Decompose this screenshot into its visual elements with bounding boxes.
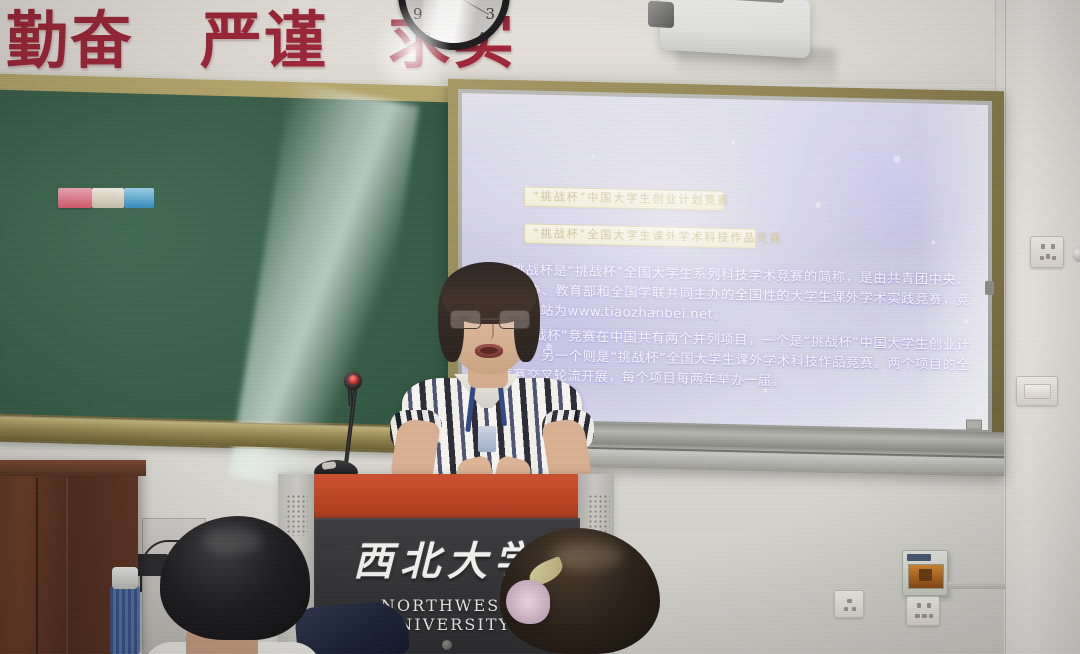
wall-power-outlet-lower[interactable] [906,596,940,626]
ceiling-projector-icon [660,0,810,59]
outlet-slot [929,614,933,618]
clock-glare [423,0,487,50]
screen-hinge [985,281,994,295]
presenter [392,260,592,495]
glasses-lens-left [450,310,481,329]
presenter-id-badge [478,426,496,452]
outlet-slot [1040,256,1044,260]
blackboard-surface [0,90,454,427]
light-switch[interactable] [1016,376,1058,406]
outlet-slot [927,603,931,608]
water-bottle-cap [112,567,138,589]
audience-student-right [500,528,660,654]
breaker-window [908,564,944,589]
chalk-box-pink [58,188,92,208]
slide-title-bar-1: “挑战杯”中国大学生创业计划竞赛 [524,186,724,211]
circuit-breaker-box[interactable] [902,550,948,596]
door-knob-icon[interactable] [1072,246,1080,262]
microphone-status-led [349,375,358,384]
glasses-bridge [481,318,499,320]
wall-seam [1005,0,1006,654]
desk-groove-highlight [66,478,68,654]
blackboard [0,73,458,454]
outlet-slot [1041,244,1045,249]
desk-groove [36,478,38,654]
slogan-char-3: 严 [200,6,264,76]
classroom-photo-scene: 勤 奋 严 谨 求 实 9 8 3 4 5 [0,0,1080,654]
chalk-box-blue [124,188,154,208]
clock-numeral-9: 9 [413,5,423,23]
breaker-label [907,554,931,561]
desk-top-surface [0,460,146,476]
port-slot [852,607,856,611]
slide-title-bar-2: “挑战杯”全国大学生课外学术科技作品竞赛 [524,223,756,248]
audience-student-left [160,516,310,654]
slogan-char-4: 谨 [264,6,328,76]
plaque-screw [442,640,452,650]
hair-accessory-flower-icon [506,580,550,624]
dark-bag-on-podium [294,599,410,654]
outlet-slot [1046,254,1050,259]
breaker-switch[interactable] [919,569,932,581]
podium-red-band [278,474,614,520]
chalk-box-white [92,188,124,208]
slogan-char-2: 奋 [70,6,134,76]
light-switch-rocker[interactable] [1024,384,1051,399]
screen-clip [966,419,982,429]
right-wall-panel [995,0,1080,654]
student-hair-highlight [202,528,262,554]
slogan-char-1: 勤 [6,6,70,76]
outlet-slot [917,603,921,608]
presenter-nose [484,324,494,340]
presenter-mouth-inner [480,347,498,354]
outlet-slot [1052,256,1056,260]
outlet-slot [915,614,920,618]
water-bottle [110,586,140,654]
projector-lens [648,1,674,29]
wall-conduit [948,582,1006,589]
port-slot [847,599,852,603]
wall-power-outlet-upper[interactable] [1030,236,1064,268]
glasses-lens-right [499,310,530,329]
port-slot [844,607,848,611]
outlet-slot [922,614,927,618]
wall-data-port[interactable] [834,590,864,618]
outlet-slot [1051,244,1055,249]
